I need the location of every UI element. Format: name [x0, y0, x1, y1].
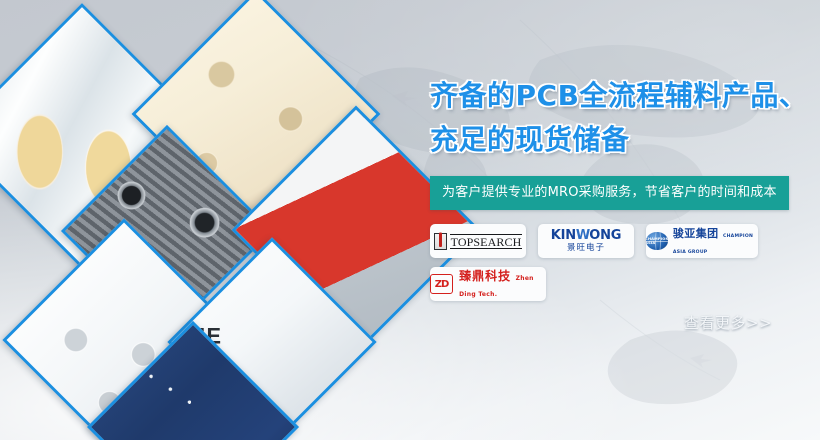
hero-banner: JIE 齐备的PCB全流程辅料产品、 充足的现货储备 为客户提供专业的MRO采购… [0, 0, 820, 440]
topsearch-wordmark: TOPSEARCH [450, 234, 523, 249]
client-logo-group: TOPSEARCH KINWONG 景旺电子 CHAMPION ASIA [430, 224, 812, 301]
globe-label: CHAMPION ASIA [646, 237, 668, 245]
headline-line-1: 齐备的PCB全流程辅料产品、 [430, 74, 812, 118]
logo-zhen-ding[interactable]: ZD 臻鼎科技 Zhen Ding Tech. [430, 267, 546, 301]
topsearch-i-icon [434, 233, 447, 250]
headline-line-2: 充足的现货储备 [430, 118, 812, 162]
product-tile-collage: JIE [0, 0, 470, 440]
kinwong-chinese-name: 景旺电子 [551, 244, 622, 253]
logo-champion-asia[interactable]: CHAMPION ASIA 骏亚集团 CHAMPION ASIA GROUP [646, 224, 758, 258]
zhen-ding-zd-icon: ZD [430, 274, 453, 294]
globe-icon: CHAMPION ASIA [646, 232, 668, 250]
client-logo-row-2: ZD 臻鼎科技 Zhen Ding Tech. [430, 267, 812, 301]
kinwong-wordmark: KINWONG [551, 229, 622, 242]
banner-copy: 齐备的PCB全流程辅料产品、 充足的现货储备 为客户提供专业的MRO采购服务，节… [430, 74, 812, 310]
client-logo-row-1: TOPSEARCH KINWONG 景旺电子 CHAMPION ASIA [430, 224, 812, 258]
logo-kinwong[interactable]: KINWONG 景旺电子 [538, 224, 634, 258]
zhen-ding-chinese-name: 臻鼎科技 [459, 269, 511, 283]
champion-chinese-name: 骏亚集团 [673, 227, 719, 240]
kinwong-w-icon: W [576, 228, 589, 243]
subtitle-bar: 为客户提供专业的MRO采购服务，节省客户的时间和成本 [430, 176, 789, 210]
logo-topsearch[interactable]: TOPSEARCH [430, 224, 526, 258]
view-more-link[interactable]: 查看更多>> [684, 312, 772, 333]
